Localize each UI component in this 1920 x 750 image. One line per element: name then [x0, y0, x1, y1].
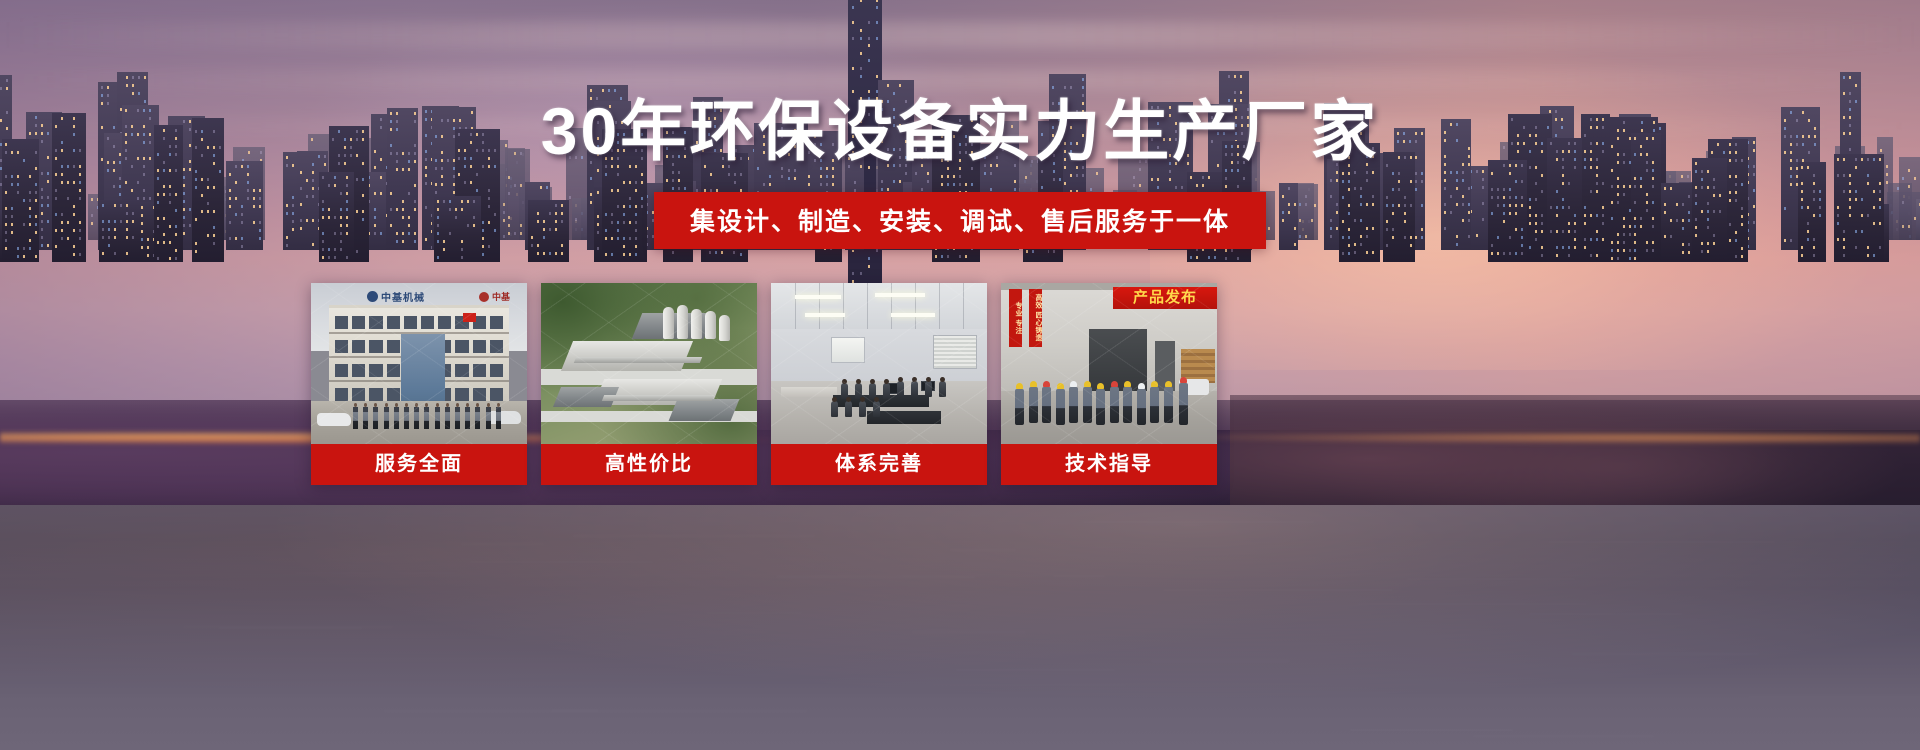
factory-aerial-photo: [541, 283, 757, 444]
feature-card-caption: 体系完善: [771, 444, 987, 485]
company-headquarters-photo: 中基机械 中基: [311, 283, 527, 444]
factory-headline-sign: 产品发布: [1113, 287, 1217, 309]
feature-card[interactable]: 体系完善: [771, 283, 987, 485]
page-title: 30年环保设备实力生产厂家: [0, 98, 1920, 164]
flag-icon: [463, 313, 476, 322]
feature-card-caption: 服务全面: [311, 444, 527, 485]
vertical-banner-left-2: 高效 匠心铸造: [1029, 289, 1042, 347]
company-logo-mark-2: [479, 292, 489, 302]
river-reflection: [0, 505, 1920, 750]
subtitle-container: 集设计、制造、安装、调试、售后服务于一体: [0, 192, 1920, 249]
feature-card-caption: 高性价比: [541, 444, 757, 485]
feature-card[interactable]: 高性价比: [541, 283, 757, 485]
office-interior-photo: [771, 283, 987, 444]
building-sign-text: 中基机械: [381, 290, 425, 303]
feature-card[interactable]: 中基机械 中基 服务全面: [311, 283, 527, 485]
building-sign-secondary: 中基: [479, 290, 525, 303]
hero-banner: 30年环保设备实力生产厂家 集设计、制造、安装、调试、售后服务于一体: [0, 0, 1920, 750]
feature-card[interactable]: 产品发布 专业 专注 高效 匠心铸造 技术指导: [1001, 283, 1217, 485]
building-sign-text-2: 中基: [492, 290, 510, 303]
feature-card-row: 中基机械 中基 服务全面: [311, 283, 1217, 485]
building-sign: 中基机械: [367, 290, 471, 303]
vertical-banner-left: 专业 专注: [1009, 289, 1022, 347]
feature-card-caption: 技术指导: [1001, 444, 1217, 485]
workers-training-photo: 产品发布 专业 专注 高效 匠心铸造: [1001, 283, 1217, 444]
company-logo-mark: [367, 291, 378, 302]
subtitle-badge: 集设计、制造、安装、调试、售后服务于一体: [654, 192, 1266, 249]
